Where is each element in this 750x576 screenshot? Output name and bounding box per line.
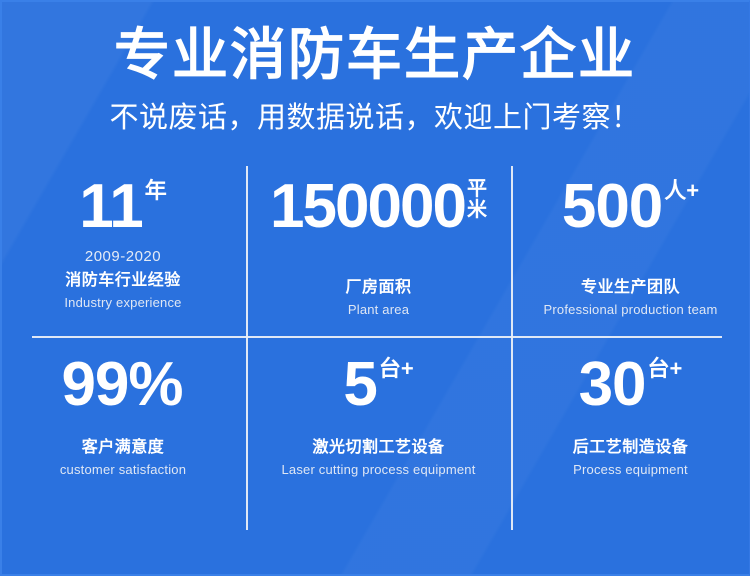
stat-value-line: 11 年 — [79, 176, 167, 238]
stat-number: 30 — [579, 354, 646, 416]
stats-row-top: 11 年 2009-2020 消防车行业经验 Industry experien… — [0, 166, 750, 336]
stat-cell-laser-cutting-equipment: 5 台+ 激光切割工艺设备 Laser cutting process equi… — [246, 338, 511, 530]
stat-label-cn: 专业生产团队 — [581, 278, 680, 298]
stat-label-cn: 消防车行业经验 — [65, 271, 181, 291]
stat-label-en: Industry experience — [64, 294, 181, 311]
stat-number: 99% — [61, 354, 182, 416]
stat-label-en: Plant area — [348, 301, 409, 318]
stat-cell-production-team: 500 人+ 专业生产团队 Professional production te… — [511, 166, 750, 336]
stat-label-en: Process equipment — [573, 461, 688, 478]
stat-year-range: 2009-2020 — [85, 248, 161, 266]
stat-unit: 年 — [145, 180, 167, 202]
stat-value-line: 500 人+ — [562, 176, 699, 238]
stat-value-line: 5 台+ — [343, 354, 413, 416]
stat-label-en: Laser cutting process equipment — [281, 461, 475, 478]
page-subtitle: 不说废话，用数据说话，欢迎上门考察！ — [0, 98, 750, 138]
stat-cell-industry-experience: 11 年 2009-2020 消防车行业经验 Industry experien… — [0, 166, 246, 336]
stat-label-cn: 厂房面积 — [345, 278, 411, 298]
stat-cell-process-equipment: 30 台+ 后工艺制造设备 Process equipment — [511, 338, 750, 530]
stat-unit: 平 米 — [467, 179, 487, 221]
stat-unit: 台+ — [648, 358, 683, 380]
stats-grid: 11 年 2009-2020 消防车行业经验 Industry experien… — [0, 166, 750, 534]
stat-number: 500 — [562, 176, 662, 238]
stat-value-line: 30 台+ — [579, 354, 683, 416]
stat-label-cn: 激光切割工艺设备 — [312, 438, 444, 458]
stat-label-en: customer satisfaction — [60, 461, 186, 478]
stat-number: 150000 — [270, 176, 465, 238]
stat-unit: 人+ — [664, 180, 699, 202]
stat-label-cn: 客户满意度 — [82, 438, 165, 458]
stat-cell-plant-area: 150000 平 米 厂房面积 Plant area — [246, 166, 511, 336]
page-title: 专业消防车生产企业 — [0, 22, 750, 88]
stat-unit-char-2: 米 — [467, 200, 487, 221]
stat-label-cn: 后工艺制造设备 — [573, 438, 689, 458]
stat-cell-customer-satisfaction: 99% 客户满意度 customer satisfaction — [0, 338, 246, 530]
stat-unit-char-1: 平 — [467, 179, 487, 200]
stat-number: 11 — [79, 176, 143, 238]
stat-number: 5 — [343, 354, 376, 416]
stat-unit: 台+ — [379, 358, 414, 380]
stats-row-bottom: 99% 客户满意度 customer satisfaction 5 台+ 激光切… — [0, 338, 750, 530]
promo-banner: 专业消防车生产企业 不说废话，用数据说话，欢迎上门考察！ 11 年 2009-2… — [0, 0, 750, 576]
stat-value-line: 99% — [61, 354, 184, 416]
stat-label-en: Professional production team — [544, 301, 718, 318]
banner-header: 专业消防车生产企业 不说废话，用数据说话，欢迎上门考察！ — [0, 0, 750, 138]
stat-value-line: 150000 平 米 — [270, 176, 487, 238]
